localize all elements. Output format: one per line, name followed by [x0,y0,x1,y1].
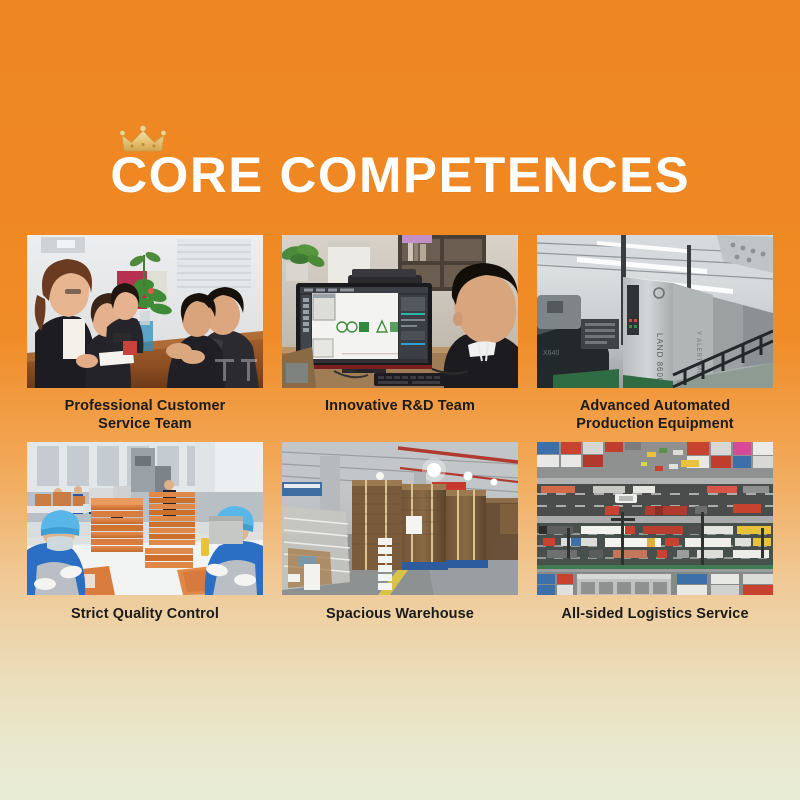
caption-line-1: Strict Quality Control [27,605,263,623]
photo-aerial-container-yard [537,442,773,595]
competence-card-quality-control[interactable]: Strict Quality Control [27,442,263,623]
caption-quality-control: Strict Quality Control [27,605,263,623]
photo-designer-at-monitor [282,235,518,388]
caption-production-equipment: Advanced Automated Production Equipment [537,397,773,433]
caption-line-2: Service Team [27,415,263,433]
competence-grid: Professional Customer Service Team [27,235,773,623]
caption-warehouse: Spacious Warehouse [282,605,518,623]
svg-text:X640: X640 [543,350,559,357]
caption-line-1: All-sided Logistics Service [537,605,773,623]
photo-warehouse-pallets [282,442,518,595]
page-title: CORE COMPETENCES [110,150,690,200]
caption-line-2: Production Equipment [537,415,773,433]
caption-rd-team: Innovative R&D Team [282,397,518,415]
caption-line-1: Professional Customer [27,397,263,415]
caption-customer-service: Professional Customer Service Team [27,397,263,433]
competence-card-logistics[interactable]: All-sided Logistics Service [537,442,773,623]
photo-customer-service-meeting [27,235,263,388]
competence-card-warehouse[interactable]: Spacious Warehouse [282,442,518,623]
caption-logistics: All-sided Logistics Service [537,605,773,623]
caption-line-1: Innovative R&D Team [282,397,518,415]
photo-quality-inspection-line [27,442,263,595]
photo-printing-press-line: LAND 8600 Y ALERT MODE X640 [537,235,773,388]
competence-card-customer-service[interactable]: Professional Customer Service Team [27,235,263,433]
core-competences-banner: CORE COMPETENCES [0,0,800,800]
caption-line-1: Spacious Warehouse [282,605,518,623]
caption-line-1: Advanced Automated [537,397,773,415]
title-wrap: CORE COMPETENCES [116,150,685,200]
competence-card-production-equipment[interactable]: LAND 8600 Y ALERT MODE X640 [537,235,773,433]
competence-card-rd-team[interactable]: Innovative R&D Team [282,235,518,433]
svg-text:LAND 8600: LAND 8600 [655,333,664,383]
page-header: CORE COMPETENCES [0,150,800,200]
